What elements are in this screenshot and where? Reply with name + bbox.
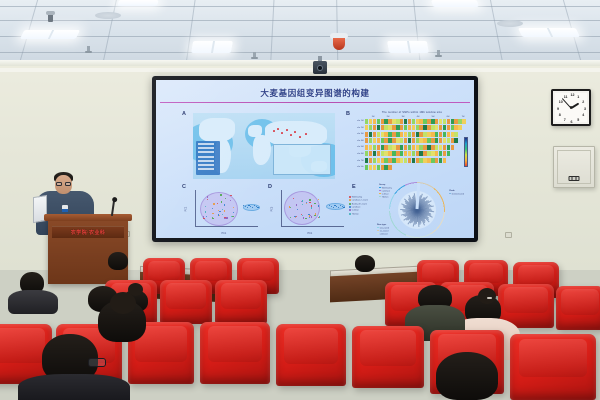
tree-legend-clade: Clade Domesticated	[449, 190, 464, 196]
data-point	[296, 204, 297, 205]
data-point	[220, 194, 221, 195]
wall-band	[0, 68, 600, 72]
speaker-badge	[62, 205, 68, 212]
ceiling-light	[117, 0, 159, 6]
data-point	[311, 216, 312, 217]
heatmap-row-label: chr Un	[354, 166, 365, 168]
heatmap-col: 5H	[426, 116, 440, 118]
camera-lens-icon	[317, 65, 323, 71]
heatmap-row: chr 3H	[354, 132, 470, 137]
data-point	[309, 199, 310, 200]
legend-item: Cultivar	[352, 210, 359, 212]
seat[interactable]	[352, 326, 424, 388]
heatmap-caption: The number of SNPs within 1Mb window siz…	[354, 111, 470, 114]
heatmap-row: chr 4H	[354, 138, 470, 143]
clock-center-pin	[570, 106, 573, 109]
heatmap-row: chr 2H	[354, 125, 470, 130]
pca-d-ylabel: PC3	[271, 207, 274, 212]
data-point	[219, 211, 220, 212]
circular-tree-panel: Group Wild barley Landrace Cultivar Tibe…	[361, 184, 471, 236]
legend-item: two-rowed	[380, 227, 389, 229]
clock-numeral: 8	[559, 113, 561, 117]
data-point	[311, 207, 312, 208]
legend-item: Cultivar	[382, 193, 389, 195]
heatmap-col: 3H	[396, 116, 410, 118]
sprinkler-icon	[253, 52, 256, 58]
panel-letter-e: E	[352, 184, 356, 190]
glasses-icon	[56, 182, 71, 186]
heatmap-cells	[365, 145, 454, 150]
seat[interactable]	[510, 334, 596, 400]
tree-legend-rowtype: Row type two-rowed six-rowed unknown	[377, 224, 389, 236]
clock-numeral: 4	[582, 113, 584, 117]
electrical-panel[interactable]	[553, 146, 595, 188]
heatmap-cells	[365, 119, 466, 124]
heatmap-row-label: chr 5H	[354, 146, 365, 148]
clock-numeral: 5	[577, 118, 579, 122]
data-point	[302, 215, 303, 216]
legend-item: Landrace	[352, 207, 361, 209]
heatmap-cells	[365, 125, 462, 130]
panel-letter-b: B	[346, 111, 350, 117]
ceiling-vent	[497, 20, 523, 27]
seat[interactable]	[215, 280, 267, 324]
breaker-switches[interactable]	[569, 176, 580, 181]
lecture-hall-photo: 大麦基因组变异图谱的构建 A	[0, 0, 600, 400]
projection-screen[interactable]: 大麦基因组变异图谱的构建 A	[152, 76, 478, 242]
seat[interactable]	[556, 286, 600, 330]
clock-numeral: 11	[564, 95, 568, 99]
heatmap-row: chr 7H	[354, 158, 470, 163]
podium-banner: 农学院·农业科	[52, 226, 124, 238]
clock-numeral: 1	[577, 95, 579, 99]
heatmap-col: 7H	[456, 116, 470, 118]
data-point	[213, 203, 214, 204]
data-point	[221, 201, 222, 202]
ceiling-light	[20, 30, 80, 39]
ceiling-light	[387, 41, 429, 53]
data-point	[309, 202, 310, 203]
clock-numeral: 9	[557, 107, 559, 111]
glasses-icon	[88, 358, 106, 367]
clock-numeral: 6	[571, 120, 573, 124]
snp-heatmap-panel: The number of SNPs within 1Mb window siz…	[354, 111, 470, 179]
clock-face: 121234567891011	[555, 93, 587, 122]
legend-item: six-rowed	[380, 230, 389, 232]
heatmap-row: chr 6H	[354, 151, 470, 156]
clock-numeral: 7	[564, 118, 566, 122]
heatmap-col: 6H	[441, 116, 455, 118]
title-divider	[160, 102, 470, 103]
clock-numeral: 2	[582, 100, 584, 104]
legend-item: Tibetan	[382, 196, 389, 198]
heatmap-row-label: chr 7H	[354, 160, 365, 162]
map-inset	[273, 144, 331, 175]
ceiling-vent	[95, 12, 121, 19]
presentation-slide: 大麦基因组变异图谱的构建 A	[156, 80, 474, 238]
circular-phylogram	[389, 182, 445, 238]
data-point	[226, 217, 227, 218]
panel-letter-a: A	[182, 111, 186, 117]
heatmap-row-label: chr 4H	[354, 140, 365, 142]
legend-item: Domesticated	[452, 193, 464, 195]
data-point	[305, 218, 306, 219]
heatmap-row: chr Un	[354, 165, 470, 170]
data-point	[319, 216, 320, 217]
heatmap-cells	[365, 165, 392, 170]
wall-clock: 121234567891011	[551, 89, 591, 126]
wall-trim	[0, 60, 600, 66]
heatmap-colorbar	[464, 137, 468, 167]
world-map-panel	[193, 113, 335, 179]
ceiling-light	[431, 0, 479, 7]
podium-banner-text: 农学院·农业科	[71, 229, 105, 236]
data-point	[222, 214, 223, 215]
sprinkler-icon	[437, 50, 440, 56]
heatmap-cells	[365, 132, 458, 137]
heatmap-row: chr 1H	[354, 119, 470, 124]
clock-numeral: 3	[584, 107, 586, 111]
seat[interactable]	[276, 324, 346, 386]
wall-outlet	[505, 232, 512, 238]
seat[interactable]	[160, 280, 212, 324]
pca-d-xlabel: PC1	[308, 232, 313, 235]
heatmap-cells	[365, 158, 446, 163]
ceiling-camera-icon	[48, 14, 53, 22]
front-camera-icon	[313, 61, 327, 74]
pca-c-xlabel: PC1	[222, 232, 227, 235]
data-point	[294, 216, 295, 217]
legend-item: unknown	[380, 233, 388, 235]
heatmap-row-label: chr 3H	[354, 133, 365, 135]
heatmap-row-label: chr 6H	[354, 153, 365, 155]
data-point	[318, 217, 319, 218]
heatmap-row: chr 5H	[354, 145, 470, 150]
heatmap-row-label: chr 2H	[354, 127, 365, 129]
heatmap-cells	[365, 151, 450, 156]
sprinkler-icon	[87, 46, 90, 52]
pca-plot-d: PC3 PC1	[272, 188, 346, 236]
ceiling-light	[518, 28, 580, 37]
heatmap-col: 2H	[381, 116, 395, 118]
ceiling-light	[191, 41, 233, 53]
pca-plot-c: PC2 PC1	[186, 188, 260, 236]
clock-numeral: 10	[559, 100, 563, 104]
seat[interactable]	[200, 322, 270, 384]
data-point	[297, 209, 298, 210]
heatmap-col-headers: 1H 2H 3H 4H 5H 6H 7H	[366, 116, 470, 118]
podium-top	[44, 214, 132, 221]
data-point	[224, 217, 225, 218]
fire-alarm-icon	[333, 38, 345, 50]
clock-numeral: 12	[571, 93, 575, 97]
map-legend	[196, 141, 220, 175]
ceiling	[0, 0, 600, 62]
heatmap-col: 1H	[366, 116, 380, 118]
slide-title: 大麦基因组变异图谱的构建	[156, 87, 474, 99]
legend-item: Tibetan	[352, 213, 359, 215]
heatmap-cells	[365, 138, 458, 143]
data-point	[205, 211, 206, 212]
heatmap-rows: chr 1Hchr 2Hchr 3Hchr 4Hchr 5Hchr 6Hchr …	[354, 119, 470, 170]
heatmap-col: 4H	[411, 116, 425, 118]
heatmap-row-label: chr 1H	[354, 120, 365, 122]
pca-c-ylabel: PC2	[185, 207, 188, 212]
